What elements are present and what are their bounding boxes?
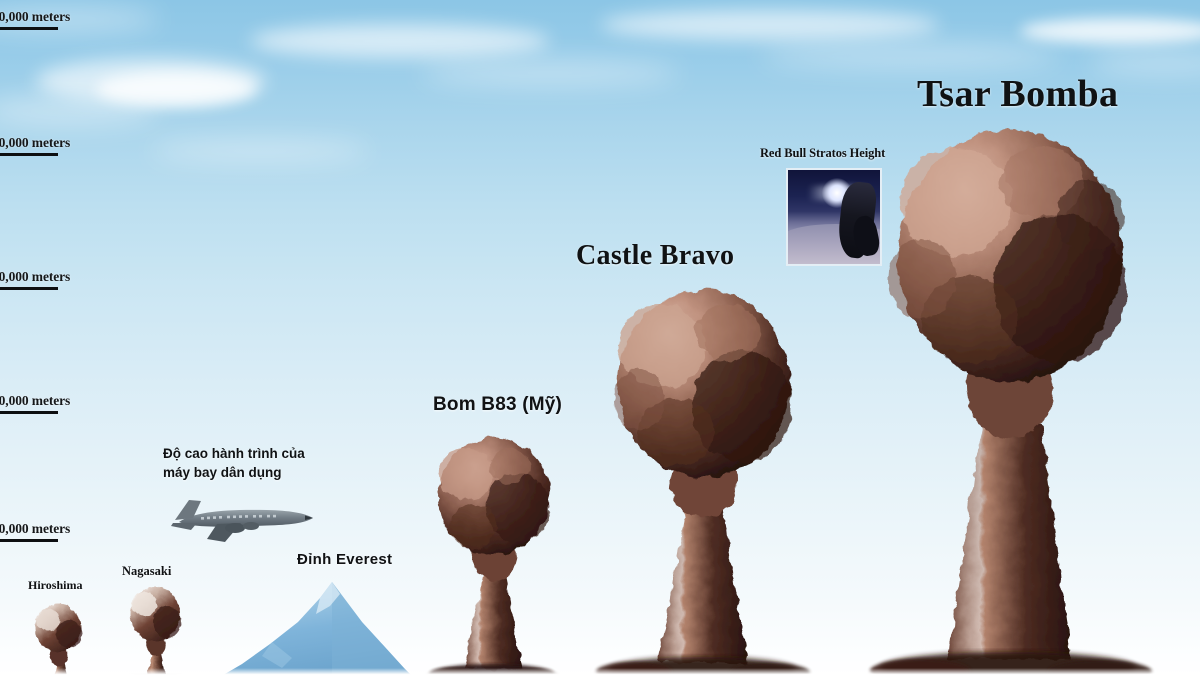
scale-tick-40000: 40,000 meters bbox=[0, 134, 110, 160]
scale-tick-label: 30,000 meters bbox=[0, 268, 110, 286]
label-castle-bravo: Castle Bravo bbox=[576, 240, 734, 272]
scale-tick-label: 50,000 meters bbox=[0, 8, 110, 26]
scale-tick-50000: 50,000 meters bbox=[0, 8, 110, 34]
scale-tick-rule bbox=[0, 27, 58, 30]
label-dinh-everest: Đỉnh Everest bbox=[297, 551, 392, 568]
mushroom-cloud-castle-bravo bbox=[586, 280, 822, 684]
cloud-wisp bbox=[150, 140, 370, 162]
scale-tick-rule bbox=[0, 287, 58, 290]
mushroom-cloud-b83 bbox=[414, 430, 574, 684]
scale-tick-label: 40,000 meters bbox=[0, 134, 110, 152]
scale-tick-label: 10,000 meters bbox=[0, 520, 110, 538]
scale-tick-30000: 30,000 meters bbox=[0, 268, 110, 294]
label-airplane-cruising-altitude: Độ cao hành trình của máy bay dân dụng bbox=[163, 444, 331, 482]
label-airplane-line-1: Độ cao hành trình của bbox=[163, 446, 305, 461]
cloud-wisp bbox=[760, 44, 1060, 68]
nuclear-blast-height-infographic: 50,000 meters 40,000 meters 30,000 meter… bbox=[0, 0, 1200, 684]
commercial-airplane-icon bbox=[163, 492, 321, 548]
scale-tick-rule bbox=[0, 539, 58, 542]
cloud-wisp bbox=[600, 10, 940, 40]
scale-tick-10000: 10,000 meters bbox=[0, 520, 110, 546]
label-red-bull-stratos: Red Bull Stratos Height bbox=[760, 146, 885, 161]
label-bom-b83: Bom B83 (Mỹ) bbox=[433, 394, 562, 416]
scale-tick-20000: 20,000 meters bbox=[0, 392, 110, 418]
red-bull-stratos-photo-thumbnail bbox=[786, 168, 882, 266]
label-airplane-line-2: máy bay dân dụng bbox=[163, 465, 282, 480]
label-hiroshima: Hiroshima bbox=[28, 578, 82, 593]
mushroom-cloud-tsar-bomba bbox=[860, 120, 1156, 684]
cloud-wisp bbox=[420, 60, 680, 86]
cloud-wisp bbox=[250, 24, 550, 58]
scale-tick-rule bbox=[0, 153, 58, 156]
ground-line bbox=[0, 668, 1200, 684]
scale-tick-label: 20,000 meters bbox=[0, 392, 110, 410]
label-nagasaki: Nagasaki bbox=[122, 564, 171, 579]
scale-tick-rule bbox=[0, 411, 58, 414]
label-tsar-bomba: Tsar Bomba bbox=[917, 72, 1118, 116]
